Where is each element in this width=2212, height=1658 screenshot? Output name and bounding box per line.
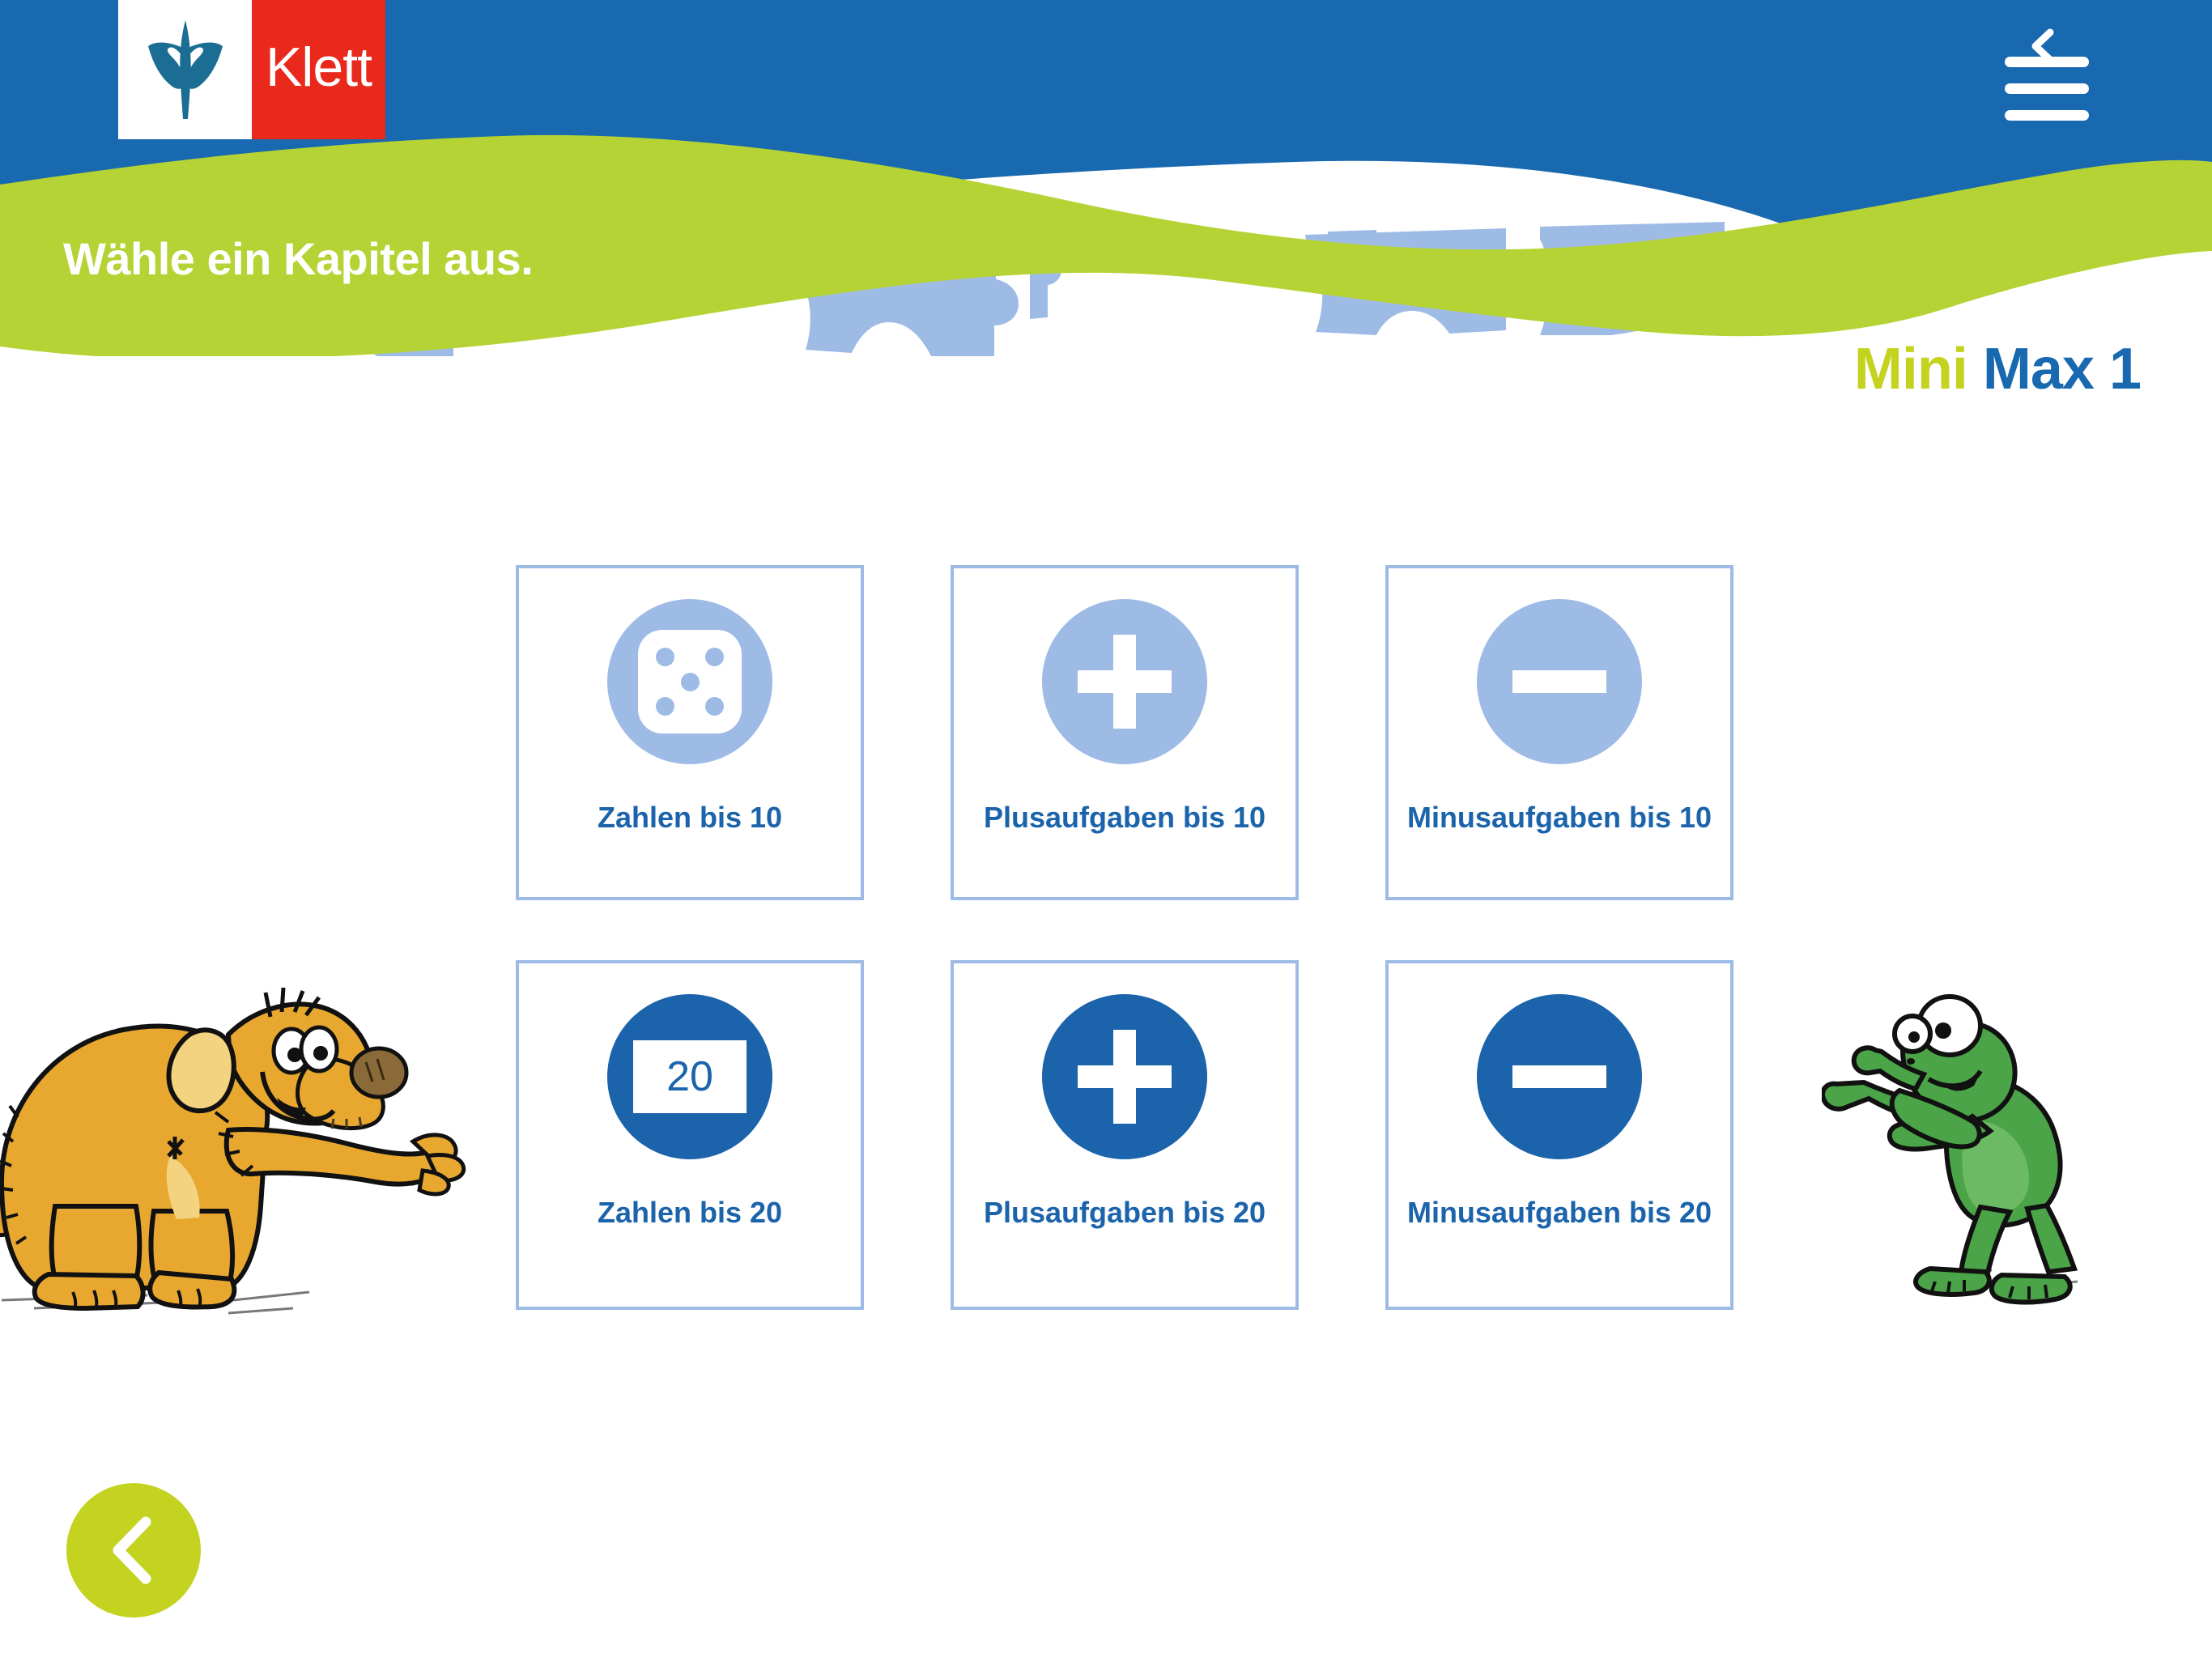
klett-logo[interactable]: Klett <box>118 0 385 139</box>
series-title: Mini Max 1 <box>1854 336 2141 402</box>
dice-five-icon <box>638 630 742 733</box>
hamburger-line <box>2005 83 2089 94</box>
plus-icon <box>1078 1030 1172 1124</box>
chapter-tile-minusaufgaben-bis-10[interactable]: Minusaufgaben bis 10 <box>1385 565 1733 900</box>
klett-flower-icon <box>118 0 252 139</box>
chapter-badge <box>1042 599 1207 764</box>
chapter-badge <box>1477 994 1642 1159</box>
chapter-label: Zahlen bis 20 <box>598 1195 782 1231</box>
chapter-tile-zahlen-bis-10[interactable]: Zahlen bis 10 <box>516 565 864 900</box>
back-button[interactable] <box>66 1483 201 1618</box>
number-plate-icon: 20 <box>633 1040 747 1113</box>
chapter-badge: 20 <box>607 994 772 1159</box>
chapter-label: Minusaufgaben bis 10 <box>1407 800 1712 835</box>
chapter-badge <box>1042 994 1207 1159</box>
klett-wordmark: Klett <box>252 0 385 139</box>
series-title-max: Max 1 <box>1983 337 2141 402</box>
page-title: Wähle ein Kapitel aus. <box>63 232 533 285</box>
plus-icon <box>1078 635 1172 729</box>
hamburger-line <box>2005 110 2089 121</box>
chevron-left-icon[interactable] <box>2026 28 2058 65</box>
chapter-label: Plusaufgaben bis 10 <box>984 800 1266 835</box>
chapter-badge <box>607 599 772 764</box>
chapter-label: Plusaufgaben bis 20 <box>984 1195 1266 1231</box>
app-root: Klett Wähle ein Kapitel aus. Mini Max 1 <box>0 0 2212 1658</box>
dog-mascot <box>0 939 471 1320</box>
frog-mascot <box>1822 984 2097 1316</box>
chapter-label: Minusaufgaben bis 20 <box>1407 1195 1712 1231</box>
chapter-grid: Zahlen bis 10 Plusaufgaben bis 10 Minusa… <box>516 565 1734 1310</box>
minus-icon <box>1512 1065 1606 1088</box>
chevron-left-icon <box>105 1516 162 1585</box>
chapter-badge <box>1477 599 1642 764</box>
chapter-tile-zahlen-bis-20[interactable]: 20 Zahlen bis 20 <box>516 960 864 1310</box>
chapter-label: Zahlen bis 10 <box>598 800 782 835</box>
chapter-tile-plusaufgaben-bis-10[interactable]: Plusaufgaben bis 10 <box>951 565 1299 900</box>
series-title-mini: Mini <box>1854 337 1967 402</box>
chapter-tile-minusaufgaben-bis-20[interactable]: Minusaufgaben bis 20 <box>1385 960 1733 1310</box>
chapter-tile-plusaufgaben-bis-20[interactable]: Plusaufgaben bis 20 <box>951 960 1299 1310</box>
hamburger-menu-icon[interactable] <box>2005 57 2089 118</box>
minus-icon <box>1512 670 1606 693</box>
